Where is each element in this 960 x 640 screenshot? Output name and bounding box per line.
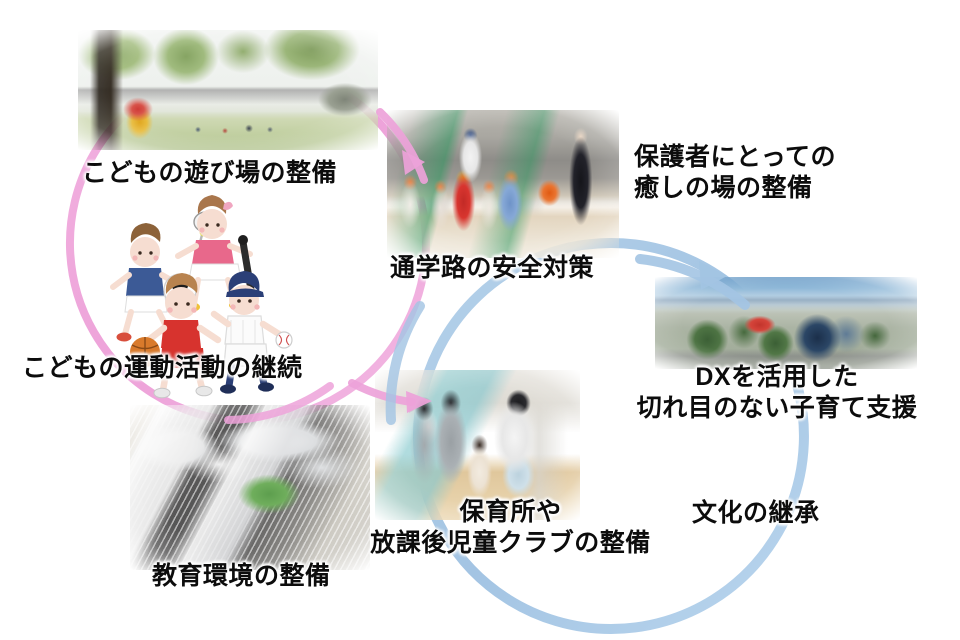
kid-soccer-icon [113,223,196,342]
label-culture-succession: 文化の継承 [692,498,820,529]
aerial-city-photo [655,277,917,369]
label-playground: こどもの遊び場の整備 [82,158,337,189]
label-dx-childcare-support: DXを活用した 切れ目のない子育て支援 [632,362,922,425]
label-nursery-afterschool: 保育所や 放課後児童クラブの整備 [358,497,663,560]
playground-photo [78,30,378,150]
crossing-photo [387,110,619,258]
label-school-route-safety: 通学路の安全対策 [390,253,594,284]
school-photo [130,405,370,570]
label-guardian-healing-place: 保護者にとっての 癒しの場の整備 [634,142,836,205]
label-children-exercise: こどもの運動活動の継続 [22,353,303,384]
label-education-environment: 教育環境の整備 [152,561,331,592]
kid-tennis-icon [178,195,250,312]
slide-canvas: こどもの遊び場の整備 保護者にとっての 癒しの場の整備 通学路の安全対策 こども… [0,0,960,640]
